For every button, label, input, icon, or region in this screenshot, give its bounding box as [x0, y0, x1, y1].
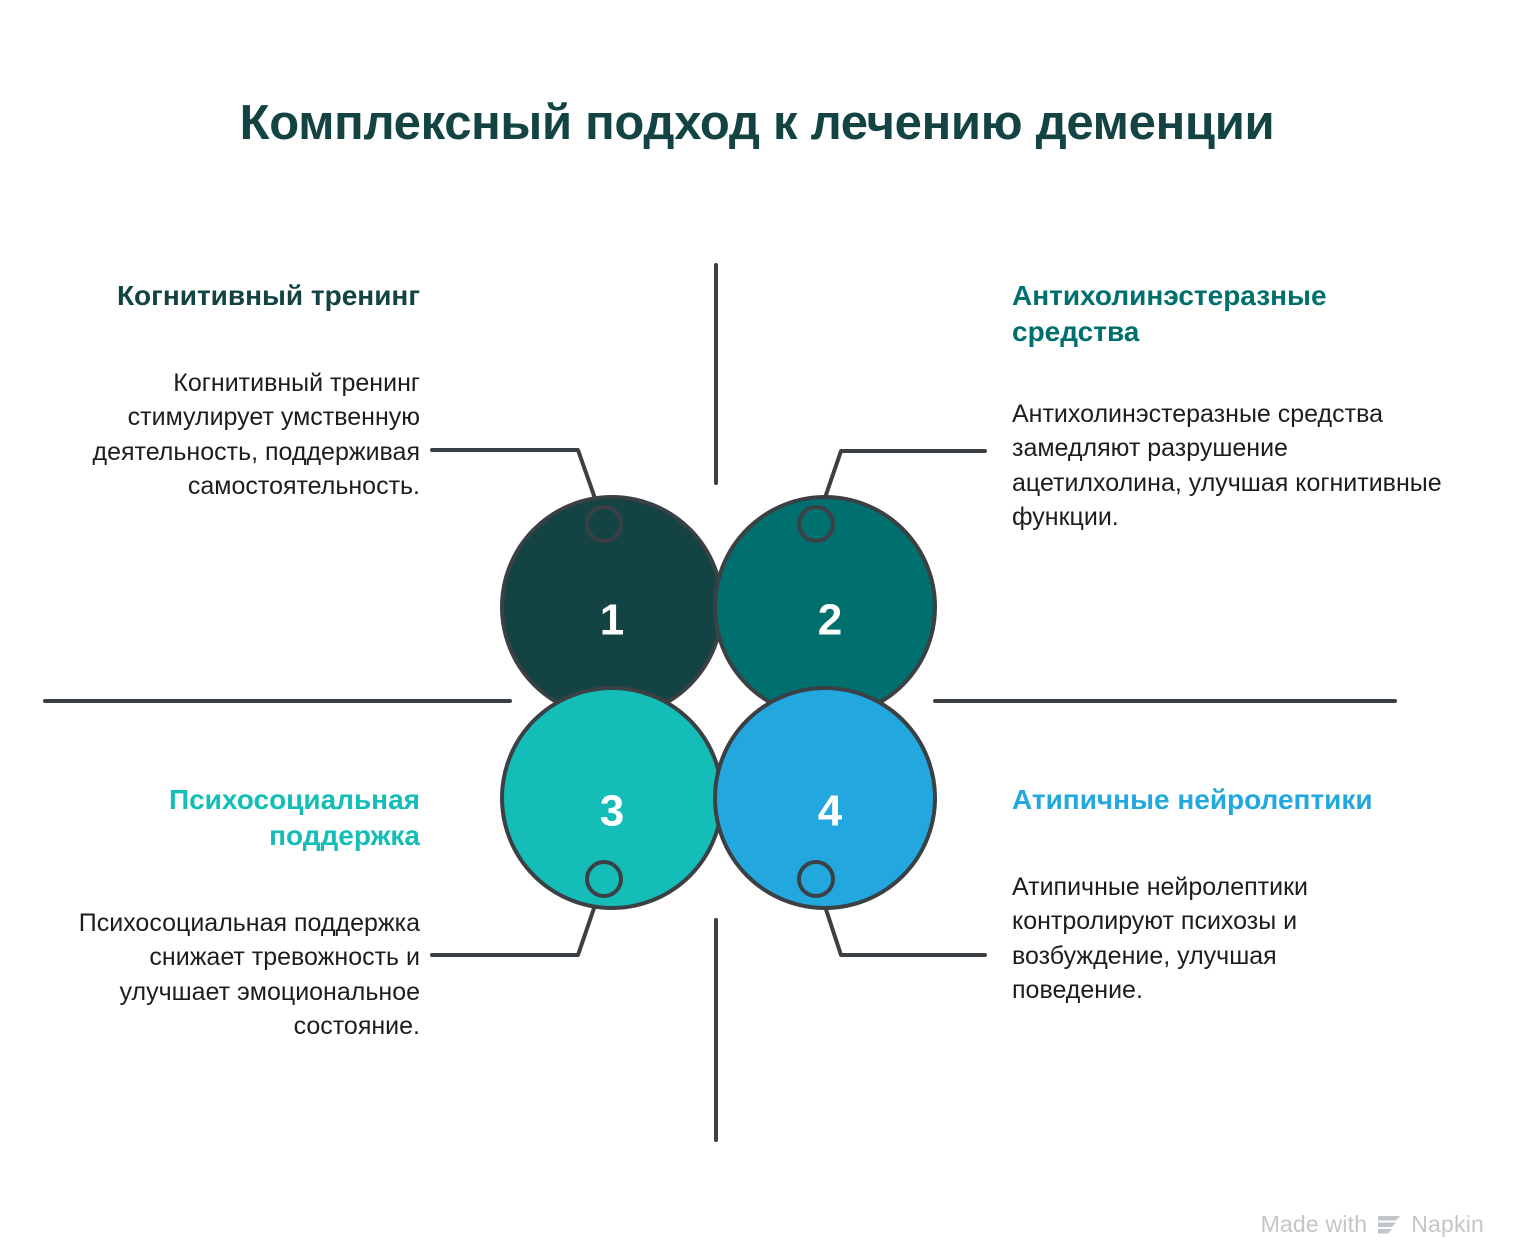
watermark-brand: Napkin	[1411, 1211, 1484, 1238]
quadrant-block-3: Психосоциальная поддержка Психосоциальна…	[66, 782, 420, 1044]
quadrant-heading-1: Когнитивный тренинг	[86, 278, 420, 314]
quadrant-heading-3: Психосоциальная поддержка	[66, 782, 420, 854]
watermark-prefix: Made with	[1261, 1211, 1368, 1238]
quadrant-body-2: Антихолинэстеразные средства замедляют р…	[1012, 397, 1452, 535]
quadrant-body-3: Психосоциальная поддержка снижает тревож…	[66, 906, 420, 1044]
quadrant-block-2: Антихолинэстеразные средства Антихолинэс…	[1012, 278, 1452, 535]
quadrant-heading-4: Атипичные нейролептики	[1012, 782, 1412, 818]
quadrant-body-4: Атипичные нейролептики контролируют псих…	[1012, 870, 1412, 1008]
page-title: Комплексный подход к лечению деменции	[0, 95, 1514, 151]
infographic-canvas: Комплексный подход к лечению деменции 1 …	[0, 0, 1514, 1256]
circle-node-2[interactable]	[715, 497, 935, 717]
quadrant-body-1: Когнитивный тренинг стимулирует умственн…	[86, 366, 420, 504]
napkin-logo-icon	[1376, 1213, 1402, 1237]
quadrant-block-4: Атипичные нейролептики Атипичные нейроле…	[1012, 782, 1412, 1008]
napkin-watermark: Made with Napkin	[1261, 1211, 1484, 1238]
circle-node-4[interactable]	[715, 688, 935, 908]
circle-node-1[interactable]	[502, 497, 722, 717]
quadrant-block-1: Когнитивный тренинг Когнитивный тренинг …	[86, 278, 420, 504]
quadrant-heading-2: Антихолинэстеразные средства	[1012, 278, 1452, 350]
circle-node-3[interactable]	[502, 688, 722, 908]
diagram-graphics: 1 2 3 4	[0, 0, 1514, 1256]
